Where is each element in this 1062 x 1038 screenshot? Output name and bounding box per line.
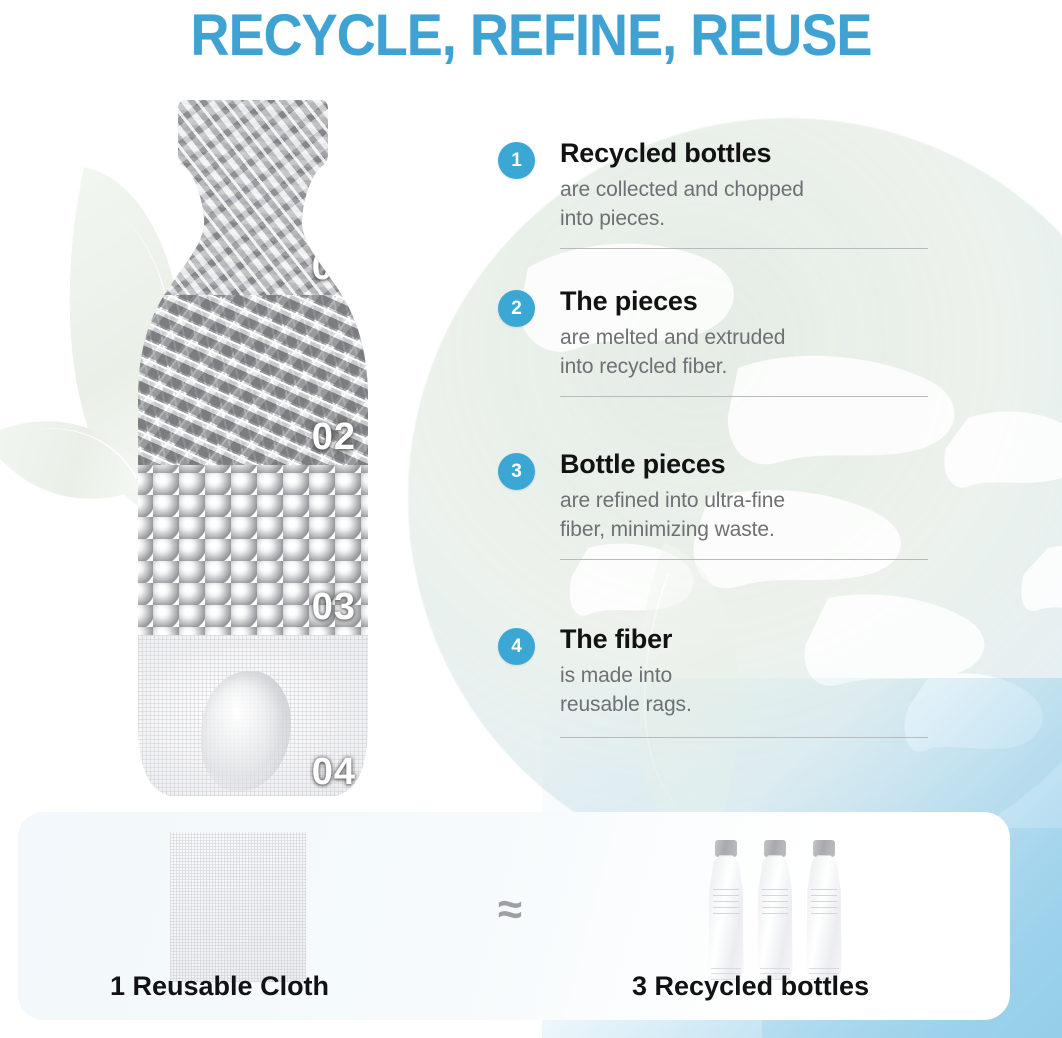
bottle-cap bbox=[764, 840, 786, 857]
bottle-cap bbox=[715, 840, 737, 857]
approximately-equal-icon: ≈ bbox=[480, 888, 540, 932]
bottle-band-03: 03 bbox=[122, 465, 384, 635]
page-title: RECYCLE, REFINE, REUSE bbox=[37, 2, 1025, 69]
recycled-bottles-group bbox=[704, 830, 864, 982]
step-number-badge: 3 bbox=[498, 453, 535, 490]
bottle-body bbox=[804, 855, 844, 980]
step-divider bbox=[560, 559, 928, 560]
step-number-badge: 1 bbox=[498, 142, 535, 179]
step-divider bbox=[560, 737, 928, 738]
step-body: are melted and extruded into recycled fi… bbox=[560, 324, 928, 381]
step-number-badge: 4 bbox=[498, 628, 535, 665]
step-divider bbox=[560, 248, 928, 249]
process-step-3: 3 Bottle pieces are refined into ultra-f… bbox=[498, 449, 928, 624]
step-body: are refined into ultra-fine fiber, minim… bbox=[560, 487, 928, 544]
equivalence-card: ≈ 1 Reusable Cloth 3 Recycled bbox=[18, 812, 1010, 1020]
bottle-cap bbox=[813, 840, 835, 857]
step-number-badge: 2 bbox=[498, 290, 535, 327]
bottle-band-number: 01 bbox=[312, 246, 356, 289]
bottle-icon bbox=[753, 840, 797, 980]
step-body: are collected and chopped into pieces. bbox=[560, 176, 928, 233]
infographic-canvas: RECYCLE, REFINE, REUSE 01 02 03 04 bbox=[0, 0, 1062, 1038]
bottle-band-02: 02 bbox=[122, 295, 384, 465]
bottles-caption: 3 Recycled bottles bbox=[632, 971, 869, 1002]
step-divider bbox=[560, 396, 928, 397]
bottle-ribs bbox=[713, 888, 739, 914]
step-title: The pieces bbox=[560, 286, 928, 316]
bottle-band-01: 01 bbox=[122, 100, 384, 295]
step-title: Bottle pieces bbox=[560, 449, 928, 479]
bottle-body bbox=[755, 855, 795, 980]
bottle-icon bbox=[704, 840, 748, 980]
bottle-body bbox=[706, 855, 746, 980]
flakes-texture bbox=[122, 100, 384, 295]
reusable-cloth-swatch bbox=[170, 832, 306, 982]
bottle-band-04: 04 bbox=[122, 635, 384, 800]
process-step-4: 4 The fiber is made into reusable rags. bbox=[498, 624, 928, 784]
step-title: Recycled bottles bbox=[560, 138, 928, 168]
bottle-ribs bbox=[811, 888, 837, 914]
bottle-band-number: 03 bbox=[312, 586, 356, 629]
step-title: The fiber bbox=[560, 624, 928, 654]
process-step-1: 1 Recycled bottles are collected and cho… bbox=[498, 138, 928, 286]
bottle-icon bbox=[802, 840, 846, 980]
process-steps-list: 1 Recycled bottles are collected and cho… bbox=[498, 138, 928, 784]
bottle-band-number: 04 bbox=[312, 751, 356, 794]
bottle-band-number: 02 bbox=[312, 416, 356, 459]
process-step-2: 2 The pieces are melted and extruded int… bbox=[498, 286, 928, 449]
process-bottle-graphic: 01 02 03 04 bbox=[122, 100, 384, 800]
cloth-caption: 1 Reusable Cloth bbox=[110, 971, 329, 1002]
bottle-ribs bbox=[762, 888, 788, 914]
step-body: is made into reusable rags. bbox=[560, 662, 928, 719]
leaf-watermark-small bbox=[6, 400, 132, 520]
